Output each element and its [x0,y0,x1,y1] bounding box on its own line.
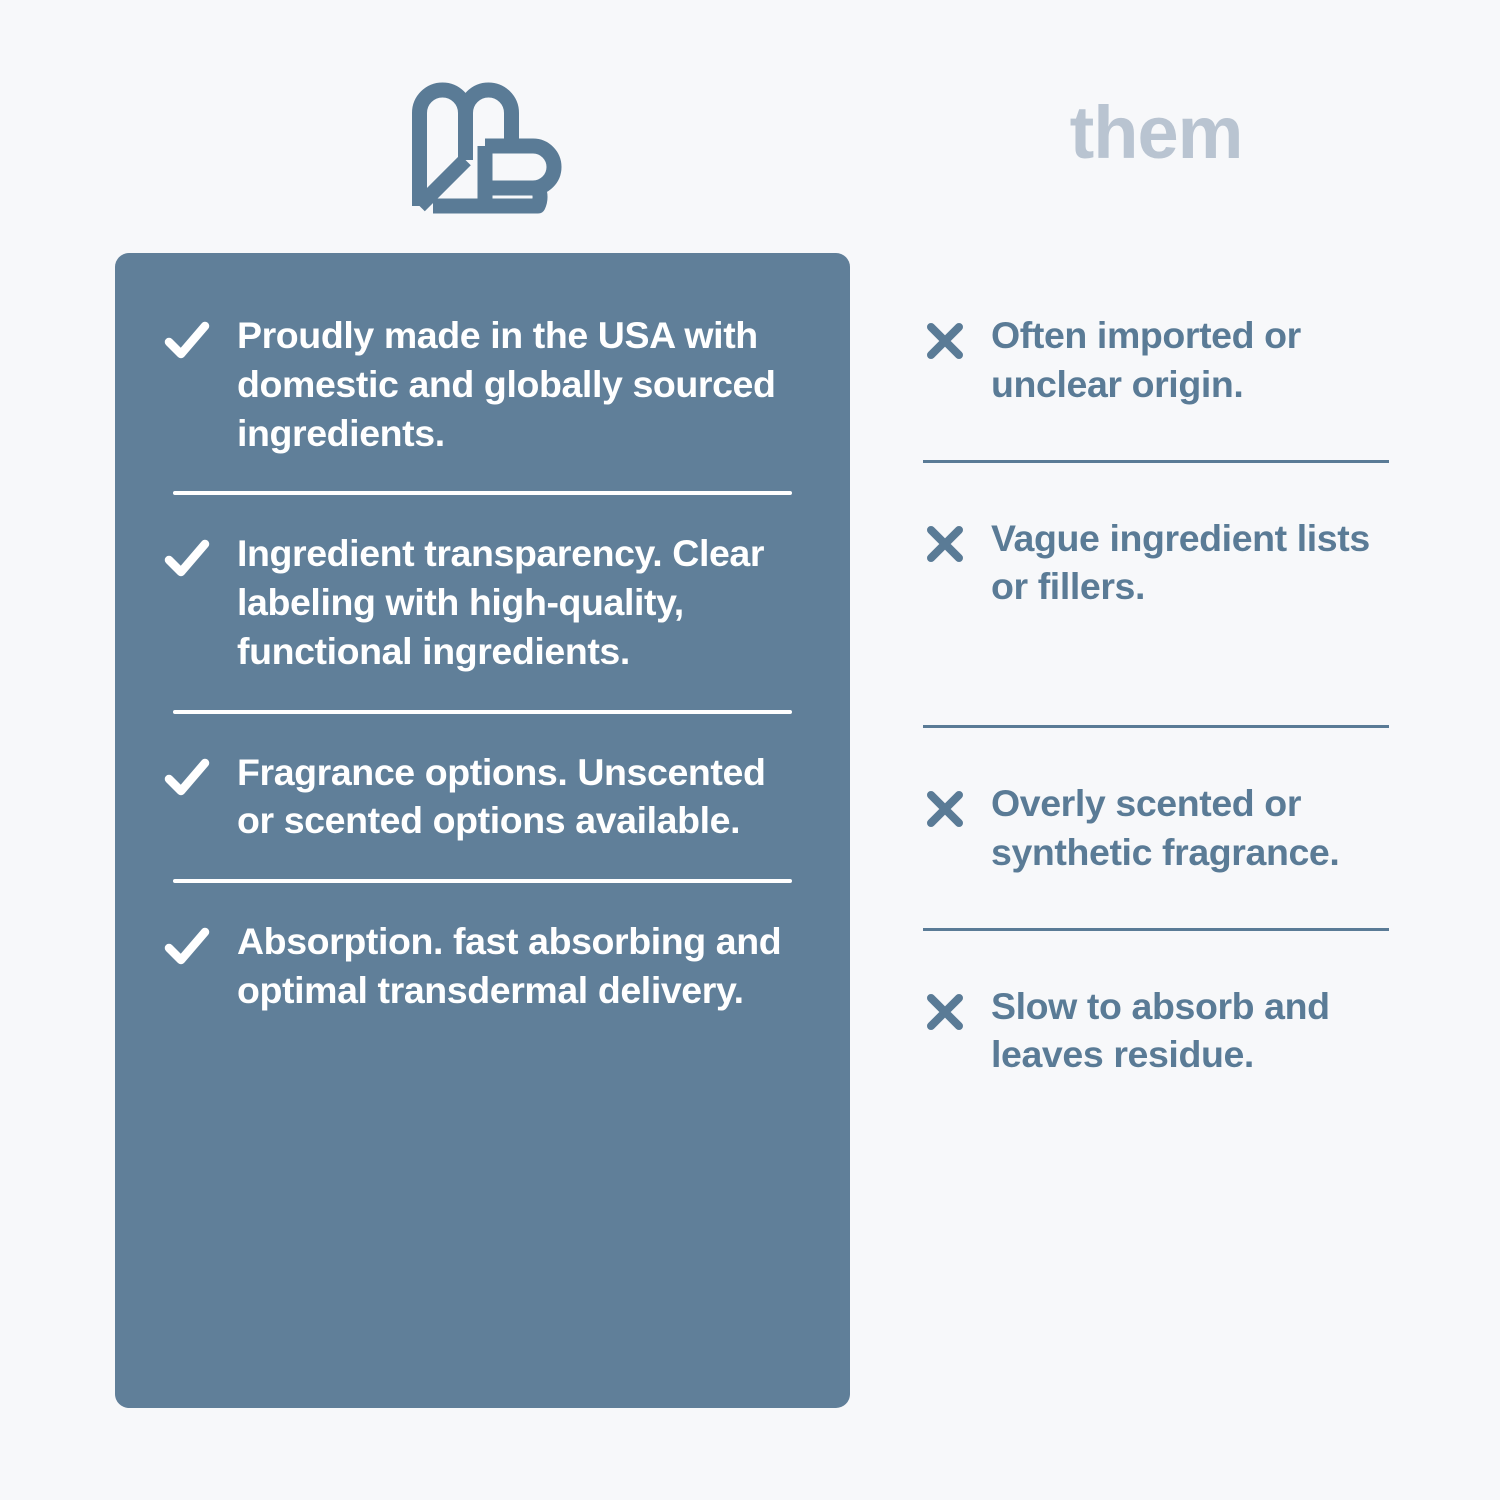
close-icon [923,787,967,839]
list-item-label: Proudly made in the USA with domestic an… [237,311,785,457]
divider [173,491,792,495]
list-item: Fragrance options. Unscented or scented … [163,748,802,846]
divider [923,725,1389,728]
divider [173,710,792,714]
list-item-label: Overly scented or synthetic fragrance. [991,779,1389,877]
list-item: Absorption. fast absorbing and optimal t… [163,917,802,1015]
check-icon [163,923,211,975]
brand-benefits-card: Proudly made in the USA with domestic an… [115,253,850,1408]
comparison-infographic: them Proudly made in the USA with domest… [0,0,1500,1500]
list-item: Proudly made in the USA with domestic an… [163,311,802,457]
list-item-label: Often imported or unclear origin. [991,311,1389,409]
list-item: Slow to absorb and leaves residue. [923,982,1389,1080]
brand-benefits-list: Proudly made in the USA with domestic an… [163,311,802,1015]
list-item-label: Slow to absorb and leaves residue. [991,982,1389,1080]
list-item-label: Ingredient transparency. Clear labeling … [237,529,785,675]
check-icon [163,535,211,587]
mb-monogram-logo [408,78,568,218]
competitor-column-title: them [923,96,1389,170]
list-item-label: Absorption. fast absorbing and optimal t… [237,917,785,1015]
divider [923,460,1389,463]
check-icon [163,317,211,369]
header: them [0,0,1500,253]
list-item: Vague ingredient lists or fillers. [923,514,1389,612]
list-item: Overly scented or synthetic fragrance. [923,779,1389,877]
list-item-label: Fragrance options. Unscented or scented … [237,748,785,846]
competitor-drawbacks-column: Often imported or unclear origin. Vague … [923,253,1389,1408]
close-icon [923,990,967,1042]
divider [173,879,792,883]
list-item-label: Vague ingredient lists or fillers. [991,514,1389,612]
list-item: Ingredient transparency. Clear labeling … [163,529,802,675]
divider [923,928,1389,931]
close-icon [923,522,967,574]
list-item: Often imported or unclear origin. [923,311,1389,409]
close-icon [923,319,967,371]
check-icon [163,754,211,806]
